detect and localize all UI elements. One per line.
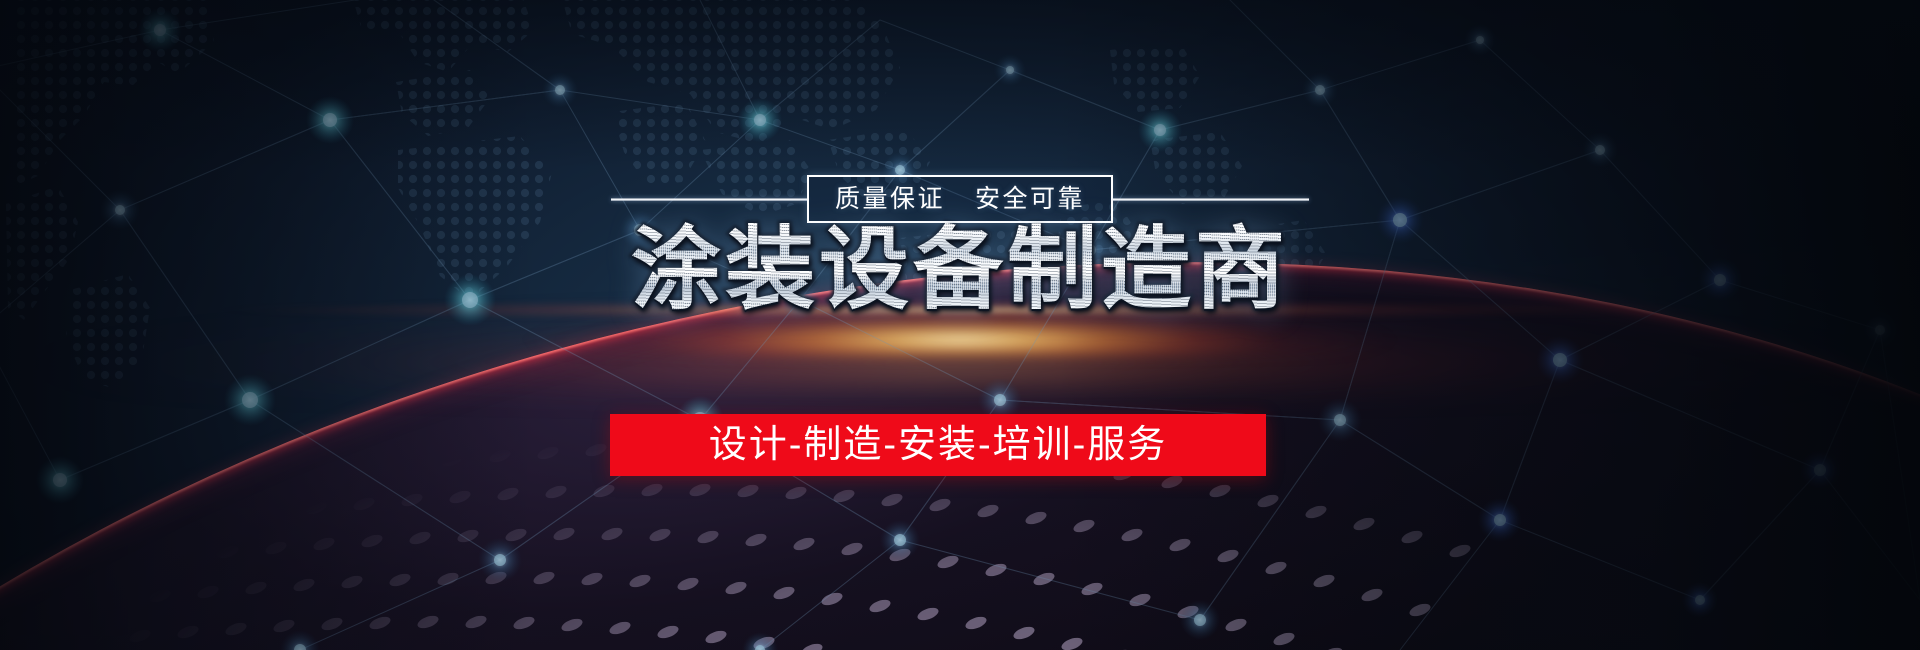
tagline-item-quality: 质量保证 bbox=[835, 187, 945, 212]
service-chain-text: 设计-制造-安装-培训-服务 bbox=[709, 426, 1168, 464]
promo-banner: 质量保证 安全可靠 涂装设备制造商 涂装设备制造商 设计-制造-安装-培训-服务 bbox=[0, 0, 1920, 650]
tagline-rule-right bbox=[1113, 198, 1309, 201]
tagline-box: 质量保证 安全可靠 bbox=[807, 175, 1113, 223]
tagline-item-safety: 安全可靠 bbox=[975, 187, 1085, 212]
tagline-rule-left bbox=[611, 198, 807, 201]
banner-content: 质量保证 安全可靠 涂装设备制造商 涂装设备制造商 设计-制造-安装-培训-服务 bbox=[0, 0, 1920, 650]
headline-text: 涂装设备制造商 bbox=[631, 222, 1289, 319]
tagline-row: 质量保证 安全可靠 bbox=[0, 175, 1920, 223]
service-chain-bar: 设计-制造-安装-培训-服务 bbox=[610, 414, 1266, 476]
headline-wrap: 涂装设备制造商 bbox=[0, 222, 1920, 319]
